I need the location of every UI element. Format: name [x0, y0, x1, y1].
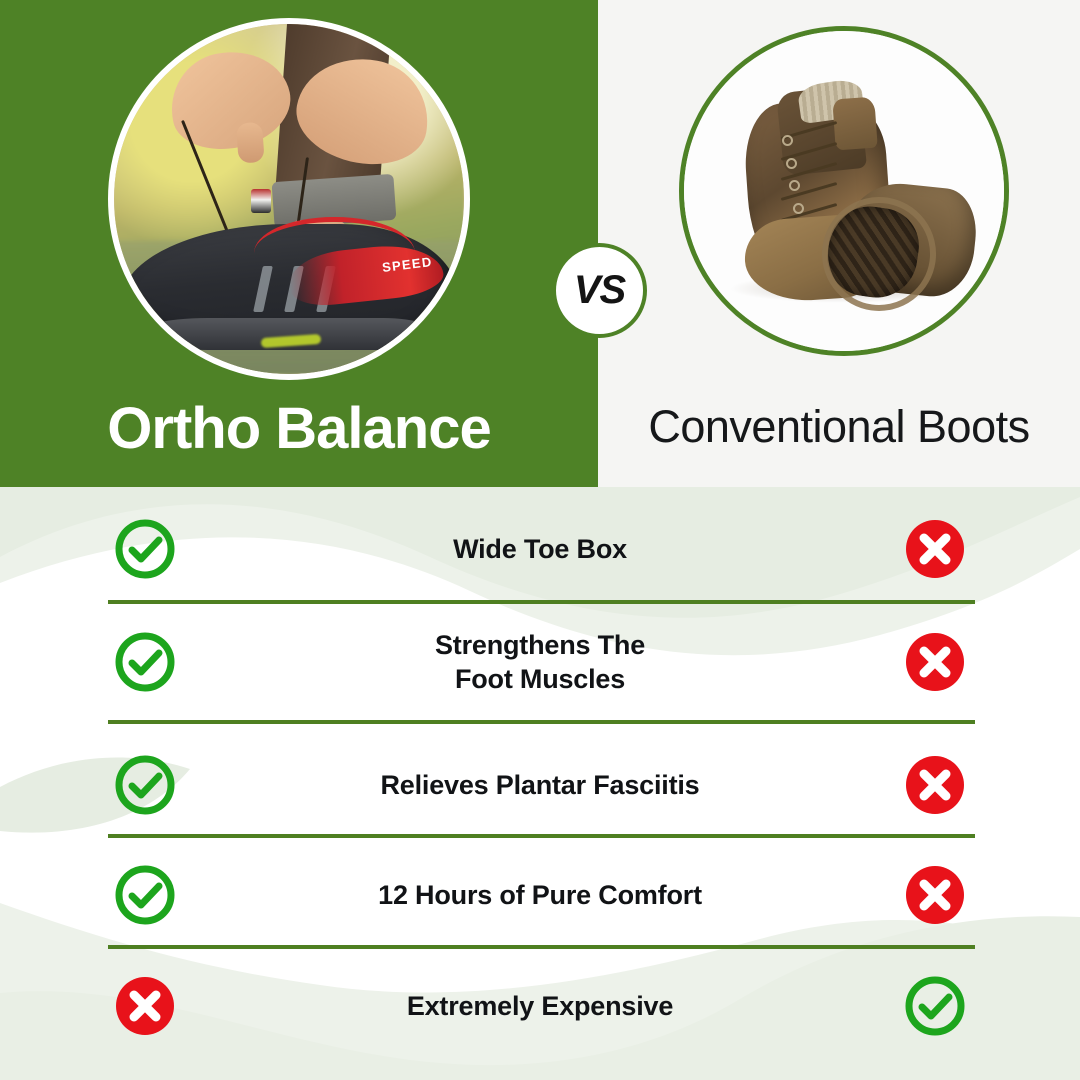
row-left-status [0, 753, 290, 817]
product-photo-conventional-boots [679, 26, 1009, 356]
product-title-right: Conventional Boots [598, 404, 1080, 449]
row-left-status [0, 974, 290, 1038]
table-row: 12 Hours of Pure Comfort [0, 849, 1080, 941]
shoe-scene: SPEED [114, 24, 464, 374]
header-section: SPEED [0, 0, 1080, 487]
feature-label: Extremely Expensive [290, 989, 790, 1023]
comparison-table-section: Wide Toe Box Strengthens The F [0, 487, 1080, 1080]
cross-circle-icon [903, 630, 967, 694]
row-right-status [790, 517, 1080, 581]
cross-circle-icon [113, 974, 177, 1038]
table-row: Wide Toe Box [0, 503, 1080, 595]
check-circle-icon [113, 517, 177, 581]
vs-badge: VS [552, 243, 647, 338]
feature-label: Relieves Plantar Fasciitis [290, 768, 790, 802]
row-right-status [790, 974, 1080, 1038]
check-circle-icon [113, 753, 177, 817]
check-circle-icon [113, 863, 177, 927]
row-divider [108, 720, 975, 724]
boots-scene [684, 31, 1004, 351]
table-row: Extremely Expensive [0, 960, 1080, 1052]
product-title-left: Ortho Balance [0, 400, 598, 458]
row-right-status [790, 630, 1080, 694]
row-divider [108, 834, 975, 838]
cuff-tag [251, 189, 271, 213]
boot-laces [780, 127, 838, 229]
boot-tongue [833, 97, 878, 151]
feature-label: 12 Hours of Pure Comfort [290, 878, 790, 912]
feature-label: Strengthens The Foot Muscles [290, 628, 790, 696]
comparison-infographic: SPEED [0, 0, 1080, 1080]
table-row: Strengthens The Foot Muscles [0, 609, 1080, 715]
check-circle-icon [903, 974, 967, 1038]
feature-rows: Wide Toe Box Strengthens The F [0, 487, 1080, 1080]
table-row: Relieves Plantar Fasciitis [0, 739, 1080, 831]
cross-circle-icon [903, 753, 967, 817]
row-divider [108, 600, 975, 604]
row-left-status [0, 517, 290, 581]
row-divider [108, 945, 975, 949]
row-right-status [790, 753, 1080, 817]
row-right-status [790, 863, 1080, 927]
check-circle-icon [113, 630, 177, 694]
vs-label: VS [574, 268, 625, 313]
row-left-status [0, 863, 290, 927]
cross-circle-icon [903, 517, 967, 581]
row-left-status [0, 630, 290, 694]
cross-circle-icon [903, 863, 967, 927]
product-photo-ortho-balance: SPEED [108, 18, 470, 380]
feature-label: Wide Toe Box [290, 532, 790, 566]
